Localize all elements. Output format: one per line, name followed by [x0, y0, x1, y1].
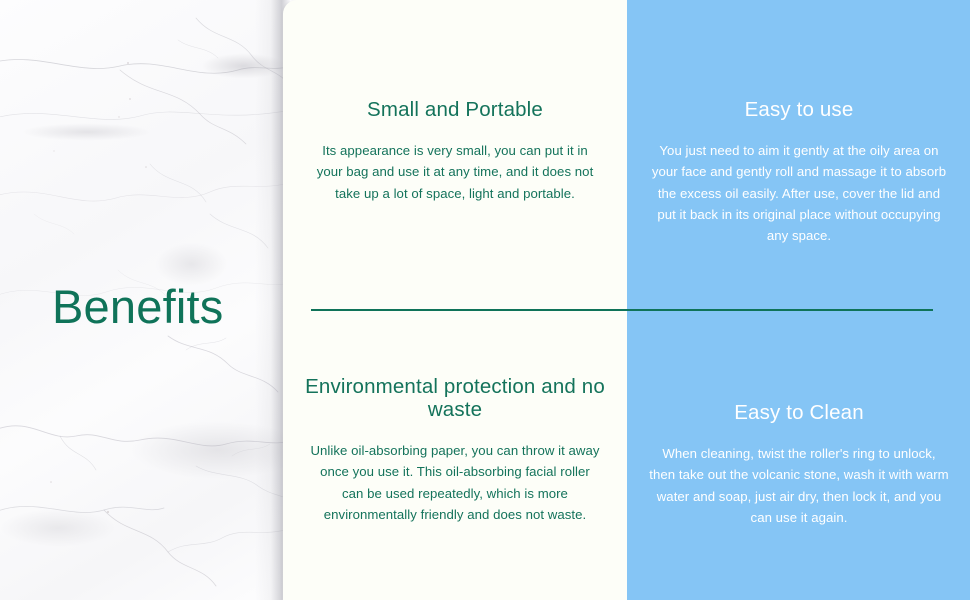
benefits-infographic: Benefits Small and Portable Its appearan…	[0, 0, 970, 600]
row-divider	[311, 309, 933, 311]
page-title: Benefits	[52, 281, 223, 333]
benefit-body-easy-use: You just need to aim it gently at the oi…	[651, 140, 947, 247]
benefit-title-small-portable: Small and Portable	[367, 99, 543, 122]
benefit-body-easy-clean: When cleaning, twist the roller's ring t…	[649, 443, 949, 529]
benefit-title-easy-use: Easy to use	[745, 99, 854, 122]
benefit-title-environmental: Environmental protection and no waste	[300, 376, 610, 422]
benefit-cell-small-portable: Small and Portable Its appearance is ver…	[300, 99, 610, 204]
benefit-body-small-portable: Its appearance is very small, you can pu…	[316, 140, 594, 204]
benefit-cell-easy-clean: Easy to Clean When cleaning, twist the r…	[644, 402, 954, 528]
benefit-title-easy-clean: Easy to Clean	[734, 402, 864, 425]
benefit-cell-easy-use: Easy to use You just need to aim it gent…	[644, 99, 954, 247]
benefit-body-environmental: Unlike oil-absorbing paper, you can thro…	[310, 440, 600, 526]
benefit-cell-environmental: Environmental protection and no waste Un…	[300, 376, 610, 525]
